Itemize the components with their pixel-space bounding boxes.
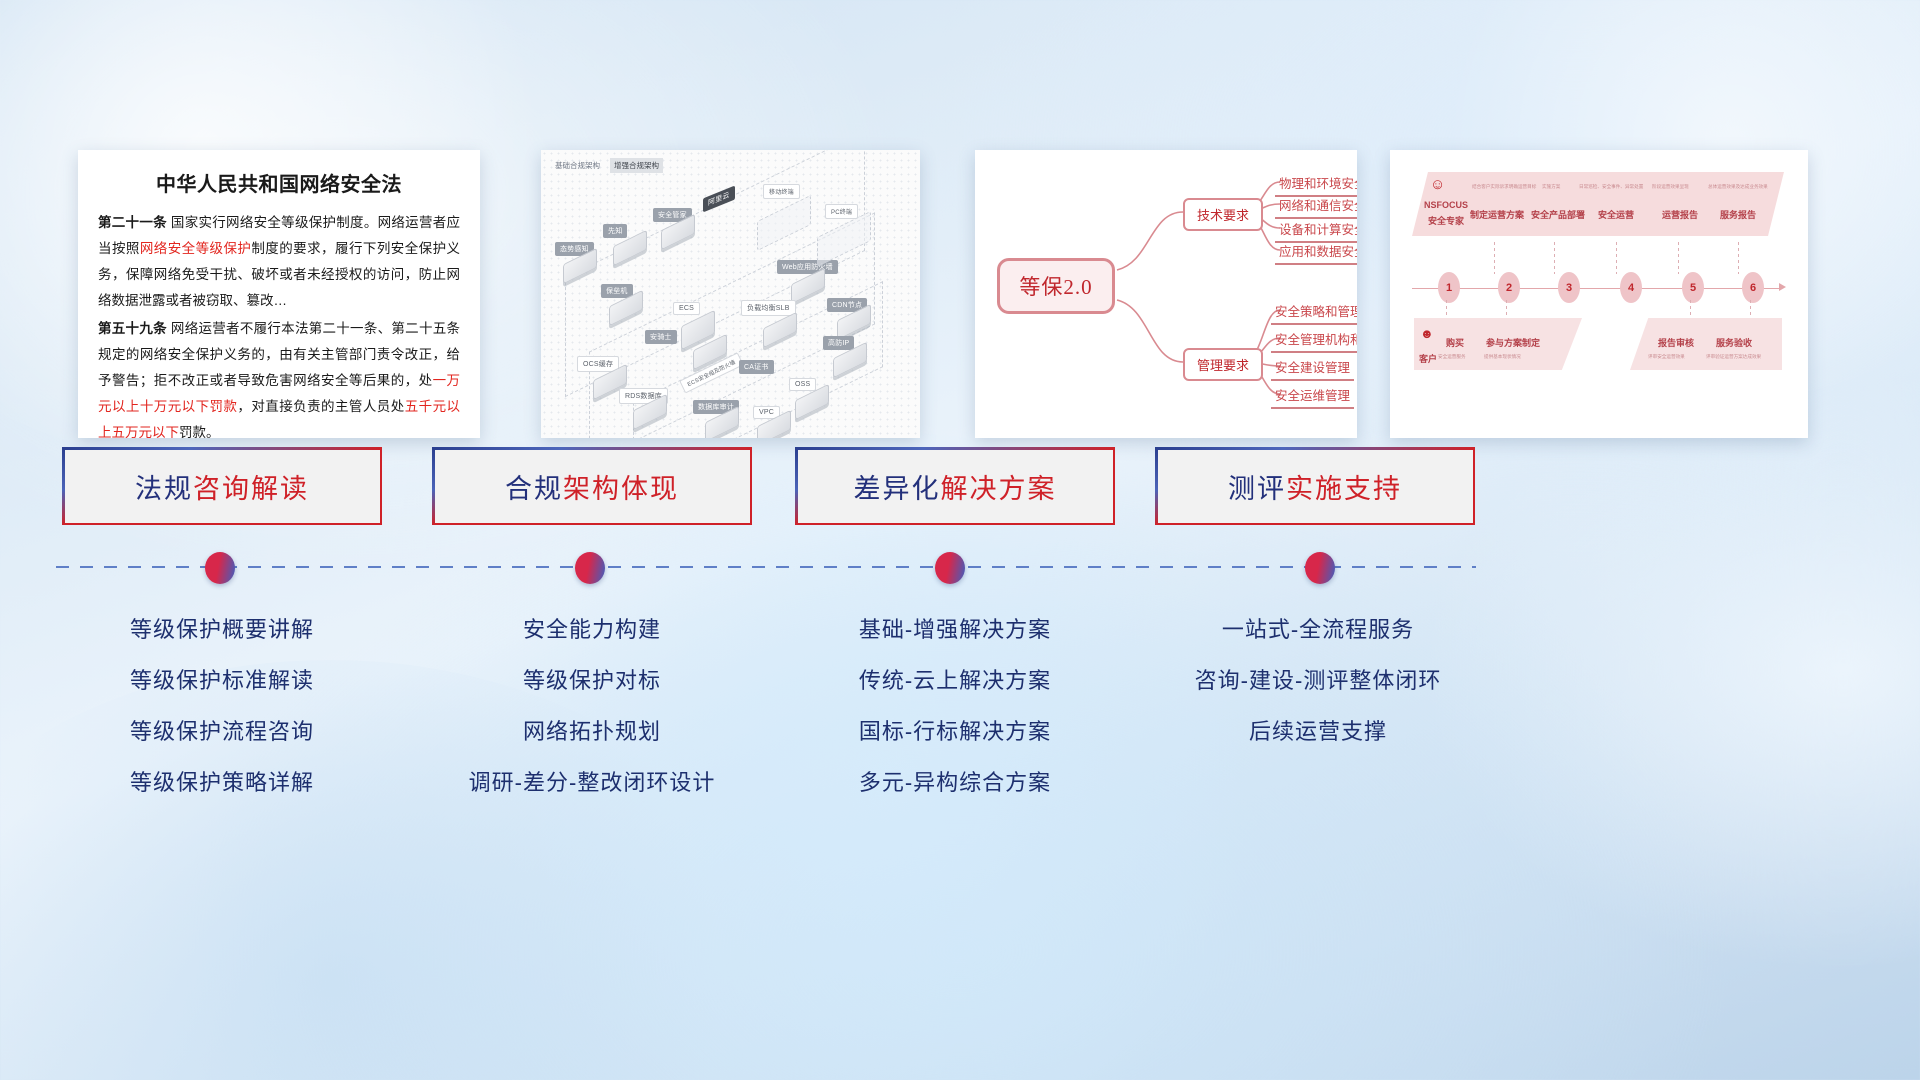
mindmap-branch-management: 管理要求 (1183, 348, 1263, 381)
mindmap-leaf-tech-4: 应用和数据安全 (1275, 240, 1357, 265)
title-3-navy: 差异化 (854, 467, 941, 506)
list-item: 多元-异构综合方案 (795, 757, 1115, 808)
expert-step-5-title: 服务报告 (1720, 208, 1756, 221)
connector-2 (1494, 242, 1495, 274)
detail-list-3: 基础-增强解决方案 传统-云上解决方案 国标-行标解决方案 多元-异构综合方案 (795, 604, 1115, 808)
dashed-timeline (56, 566, 1476, 568)
article-21-label: 第二十一条 (98, 215, 167, 230)
tab-enhanced-architecture[interactable]: 增强合规架构 (610, 158, 663, 173)
chip-foresight: 先知 (603, 224, 627, 238)
mindmap: 等保2.0 技术要求 管理要求 物理和环境安全 网络和通信安全 设备和计算安全 … (975, 150, 1357, 438)
chip-pc-terminal: PC终端 (825, 204, 858, 219)
mindmap-leaf-mgmt-1: 安全策略和管理制度 (1271, 300, 1357, 325)
law-article-59: 第五十九条 网络运营者不履行本法第二十一条、第二十五条规定的网络安全保护义务的，… (98, 316, 460, 438)
article-59-label: 第五十九条 (98, 321, 167, 336)
title-box-row: 法规咨询解读 合规架构体现 差异化解决方案 测评实施支持 (0, 447, 1920, 527)
mindmap-branch-technical: 技术要求 (1183, 198, 1263, 231)
timeline-marker-4 (1305, 552, 1335, 584)
list-item: 后续运营支撑 (1148, 706, 1488, 757)
title-box-differentiated-solution[interactable]: 差异化解决方案 (795, 447, 1115, 525)
mindmap-leaf-tech-2: 网络和通信安全 (1275, 194, 1357, 219)
expert-step-4-title: 运营报告 (1662, 208, 1698, 221)
nsfocus-brand-line2: 安全专家 (1428, 214, 1464, 227)
customer-step-1-sub: 安全运营服务 (1438, 354, 1466, 360)
chip-ddos: 高防IP (823, 336, 854, 350)
list-item: 安全能力构建 (432, 604, 752, 655)
mindmap-leaf-mgmt-4: 安全运维管理 (1271, 384, 1354, 409)
timeline-step-5: 5 (1682, 272, 1704, 303)
list-item: 等级保护概要讲解 (62, 604, 382, 655)
title-4-navy: 测评 (1228, 467, 1286, 506)
law-title: 中华人民共和国网络安全法 (98, 168, 460, 197)
list-item: 国标-行标解决方案 (795, 706, 1115, 757)
law-text-block: 中华人民共和国网络安全法 第二十一条 国家实行网络安全等级保护制度。网络运营者应… (78, 150, 480, 438)
slide-canvas: 中华人民共和国网络安全法 第二十一条 国家实行网络安全等级保护制度。网络运营者应… (0, 0, 1920, 1080)
customer-person-icon: ☻ (1420, 326, 1434, 341)
title-2-red: 架构体现 (563, 467, 679, 506)
mindmap-core: 等保2.0 (997, 258, 1115, 314)
customer-step-4-title: 服务验收 (1716, 336, 1752, 349)
title-2-navy: 合规 (505, 467, 563, 506)
connector-4 (1616, 242, 1617, 274)
list-item: 基础-增强解决方案 (795, 604, 1115, 655)
title-box-regulation-consulting[interactable]: 法规咨询解读 (62, 447, 382, 525)
title-box-compliance-architecture[interactable]: 合规架构体现 (432, 447, 752, 525)
timeline-marker-3 (935, 552, 965, 584)
customer-step-1-title: 购买 (1446, 336, 1464, 349)
customer-step-3-title: 报告审核 (1658, 336, 1694, 349)
expert-step-1-title: 制定运营方案 (1470, 208, 1524, 221)
article-59-text-c: 罚款。 (179, 425, 220, 438)
list-item: 等级保护流程咨询 (62, 706, 382, 757)
list-item: 传统-云上解决方案 (795, 655, 1115, 706)
detail-list-4: 一站式-全流程服务 咨询-建设-测评整体闭环 后续运营支撑 (1148, 604, 1488, 757)
nsfocus-timeline: ☺ NSFOCUS 安全专家 结合客户实际诉求明确运营目标 制定运营方案 实施方… (1390, 150, 1808, 438)
customer-step-2-title: 参与方案制定 (1486, 336, 1540, 349)
nsfocus-brand-line1: NSFOCUS (1424, 200, 1468, 210)
list-item: 网络拓扑规划 (432, 706, 752, 757)
timeline-axis (1412, 288, 1782, 289)
article-59-text-b: ，对直接负责的主管人员处 (237, 399, 404, 414)
tab-basic-architecture[interactable]: 基础合规架构 (551, 158, 604, 173)
expert-person-icon: ☺ (1430, 176, 1445, 193)
customer-band-right (1630, 318, 1782, 370)
list-item: 等级保护标准解读 (62, 655, 382, 706)
image-card-row: 中华人民共和国网络安全法 第二十一条 国家实行网络安全等级保护制度。网络运营者应… (0, 150, 1920, 440)
expert-step-1-sub: 结合客户实际诉求明确运营目标 (1472, 184, 1536, 190)
expert-step-4-sub: 阶段运营效果呈现 (1652, 184, 1689, 190)
customer-step-3-sub: 评审安全运营效果 (1648, 354, 1685, 360)
card-classified-protection-mindmap: 等保2.0 技术要求 管理要求 物理和环境安全 网络和通信安全 设备和计算安全 … (975, 150, 1357, 438)
chip-mobile-terminal: 移动终端 (763, 184, 800, 199)
chip-safe-rider: 安骑士 (645, 330, 677, 344)
expert-step-5-sub: 总体运营效果及达成业务效果 (1708, 184, 1768, 190)
title-3-red: 解决方案 (941, 467, 1057, 506)
expert-step-3-sub: 日常巡检、安全事件、异常处置 (1579, 184, 1643, 190)
list-item: 一站式-全流程服务 (1148, 604, 1488, 655)
expert-step-3-title: 安全运营 (1598, 208, 1634, 221)
title-1-navy: 法规 (135, 467, 193, 506)
customer-step-2-sub: 提供基本现状情况 (1484, 354, 1521, 360)
timeline-marker-1 (205, 552, 235, 584)
list-item: 咨询-建设-测评整体闭环 (1148, 655, 1488, 706)
card-compliance-architecture: 基础合规架构 增强合规架构 阿里云 安全管家 先知 态势感知 保垒机 (541, 150, 920, 438)
title-1-red: 咨询解读 (193, 467, 309, 506)
detail-list-1: 等级保护概要讲解 等级保护标准解读 等级保护流程咨询 等级保护策略详解 (62, 604, 382, 808)
law-article-21: 第二十一条 国家实行网络安全等级保护制度。网络运营者应当按照网络安全等级保护制度… (98, 210, 460, 314)
timeline-marker-2 (575, 552, 605, 584)
title-4-red: 实施支持 (1286, 467, 1402, 506)
title-box-evaluation-support[interactable]: 测评实施支持 (1155, 447, 1475, 525)
connector-6 (1738, 242, 1739, 274)
timeline-arrow-icon (1779, 283, 1786, 291)
card-nsfocus-service-timeline: ☺ NSFOCUS 安全专家 结合客户实际诉求明确运营目标 制定运营方案 实施方… (1390, 150, 1808, 438)
detail-list-2: 安全能力构建 等级保护对标 网络拓扑规划 调研-差分-整改闭环设计 (432, 604, 752, 808)
timeline-step-3: 3 (1558, 272, 1580, 303)
expert-step-2-sub: 实施方案 (1542, 184, 1560, 190)
timeline-step-4: 4 (1620, 272, 1642, 303)
architecture-diagram: 基础合规架构 增强合规架构 阿里云 安全管家 先知 态势感知 保垒机 (541, 150, 920, 438)
timeline-step-2: 2 (1498, 272, 1520, 303)
customer-step-4-sub: 评审验证运营方案达成效果 (1706, 354, 1761, 360)
connector-3 (1554, 242, 1555, 274)
mindmap-leaf-mgmt-3: 安全建设管理 (1271, 356, 1354, 381)
chip-ca-certificate: CA证书 (739, 360, 774, 374)
timeline-step-6: 6 (1742, 272, 1764, 303)
chip-slb: 负载均衡SLB (741, 300, 796, 316)
list-item: 调研-差分-整改闭环设计 (432, 757, 752, 808)
connector-5 (1678, 242, 1679, 274)
chip-ecs: ECS (673, 302, 700, 315)
expert-step-2-title: 安全产品部署 (1531, 208, 1585, 221)
timeline-step-1: 1 (1438, 272, 1460, 303)
chip-waf: Web应用防火墙 (777, 260, 838, 274)
customer-label: 客户 (1419, 352, 1437, 365)
list-item: 等级保护策略详解 (62, 757, 382, 808)
list-item: 等级保护对标 (432, 655, 752, 706)
mindmap-leaf-mgmt-2: 安全管理机构和人员 (1271, 328, 1357, 353)
card-cybersecurity-law: 中华人民共和国网络安全法 第二十一条 国家实行网络安全等级保护制度。网络运营者应… (78, 150, 480, 438)
chip-oss: OSS (789, 378, 816, 391)
architecture-tabs: 基础合规架构 增强合规架构 (551, 158, 663, 173)
article-21-highlight: 网络安全等级保护 (140, 241, 252, 256)
